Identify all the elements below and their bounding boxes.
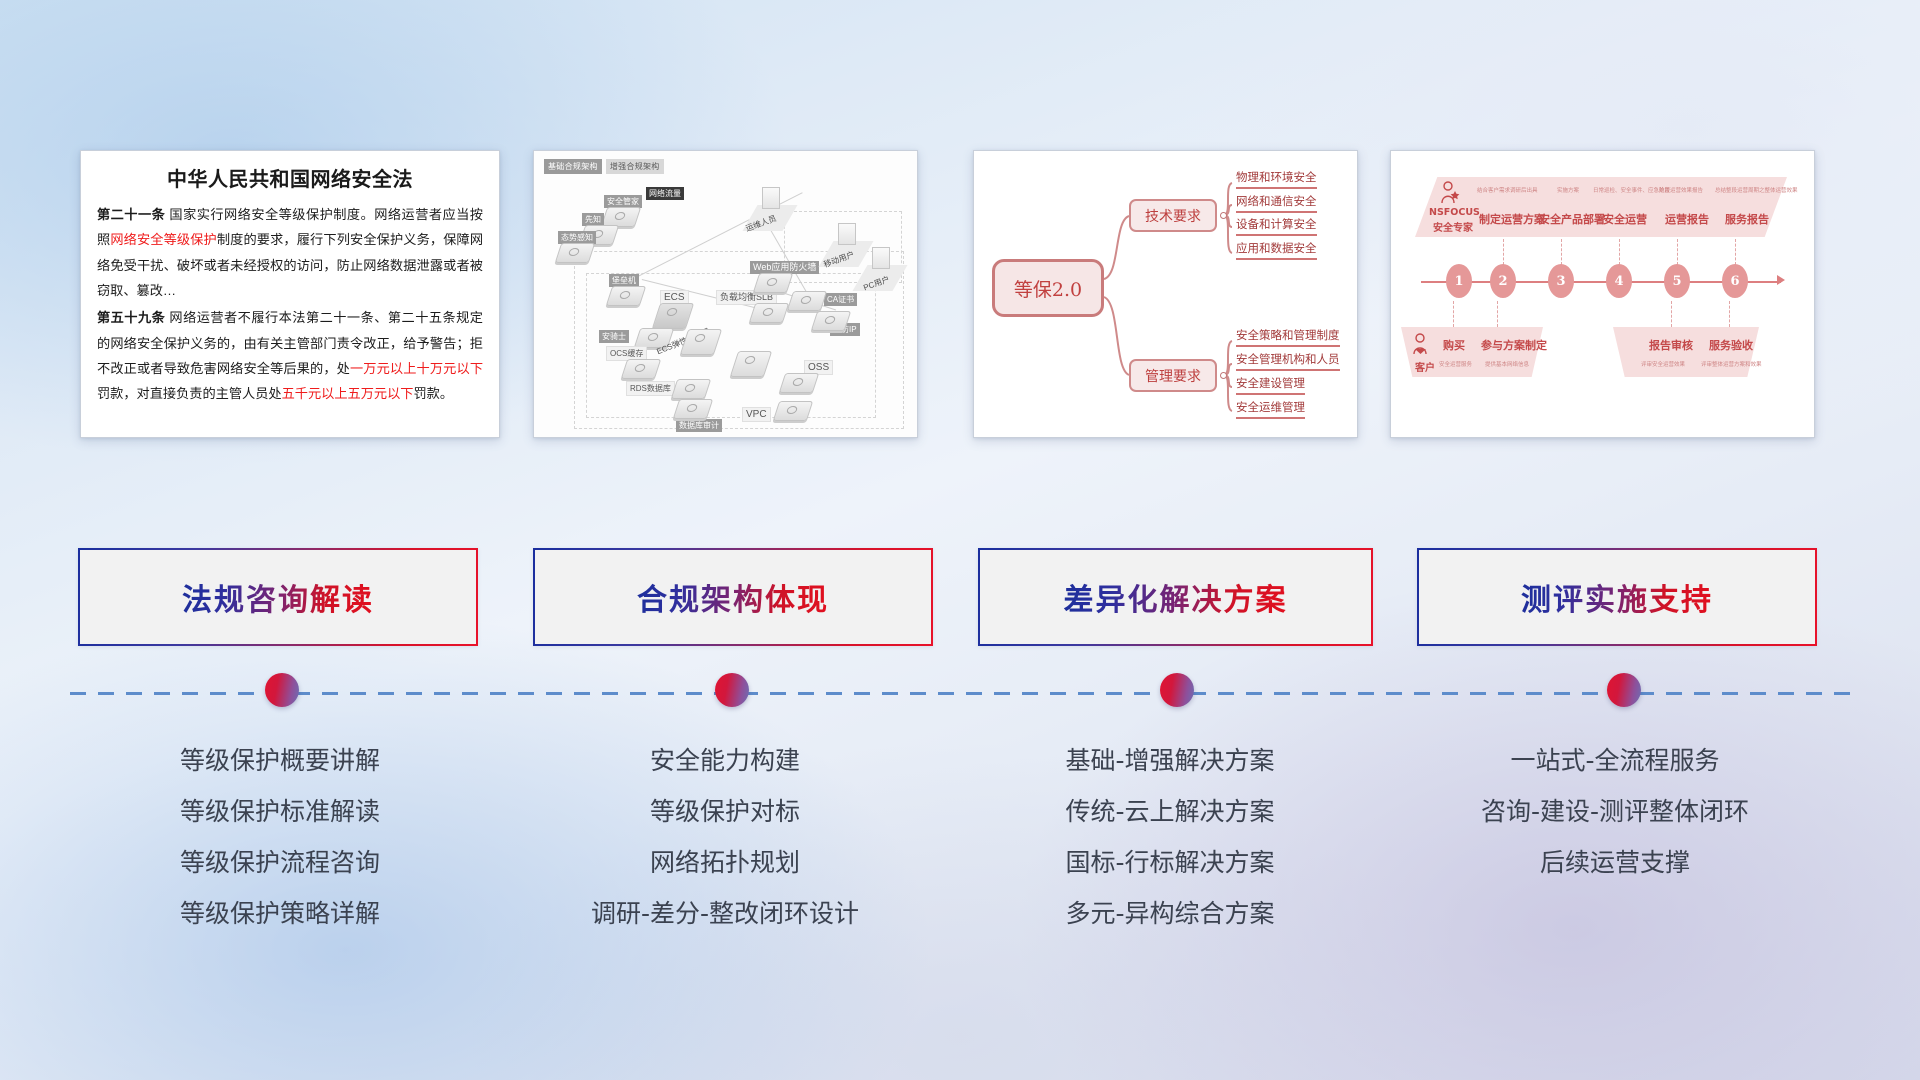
node-anti-ddos-ip: 高防IP <box>814 311 848 331</box>
process-top-sub: 总结整段运营周期之整体运营效果 <box>1715 186 1798 194</box>
section-title-label: 测评实施支持 <box>1521 575 1713 619</box>
timeline-dot-4[interactable] <box>1607 673 1641 707</box>
list-item: 国标-行标解决方案 <box>945 837 1395 888</box>
mindmap-leaf: 物理和环境安全 <box>1236 169 1317 189</box>
article-21-label: 第二十一条 <box>97 207 165 222</box>
mindmap-leaf: 安全建设管理 <box>1236 375 1305 395</box>
node-slb: 负载均衡SLB <box>752 303 786 323</box>
feature-column-4: 一站式-全流程服务 咨询-建设-测评整体闭环 后续运营支撑 <box>1390 735 1840 888</box>
law-body: 中华人民共和国网络安全法 第二十一条 国家实行网络安全等级保护制度。网络运营者应… <box>81 151 499 415</box>
mindmap-leaf: 应用和数据安全 <box>1236 240 1317 260</box>
mindmap-leaf: 安全运维管理 <box>1236 399 1305 419</box>
timeline-track <box>70 690 1850 696</box>
mindmap-collapse-knob-1[interactable] <box>1220 212 1227 219</box>
node-situational-awareness: 态势感知 <box>558 243 592 263</box>
node-db-audit: 数据库审计 <box>676 399 710 419</box>
process-step-node[interactable]: 1 <box>1446 264 1472 298</box>
node-ca-certificate: CA证书 <box>790 291 824 311</box>
process-canvas: NSFOCUS 安全专家 结合客户需求调研后出具 制定运营方案 实施方案 安全产… <box>1391 151 1814 437</box>
process-bottom-title: 报告审核 <box>1649 337 1693 353</box>
process-tick <box>1561 239 1562 265</box>
process-top-title: 服务报告 <box>1725 211 1769 227</box>
article-59-highlight-2: 五千元以上五万元以下 <box>282 386 414 401</box>
process-tick <box>1497 301 1498 327</box>
architecture-canvas: 基础合规架构 增强合规架构 网络流量 安全管家 先知 态势感知 <box>534 151 917 437</box>
mindmap-card[interactable]: 等保2.0 技术要求 物理和环境安全 网络和通信安全 设备和计算安全 应用和数据… <box>973 150 1358 438</box>
feature-column-2: 安全能力构建 等级保护对标 网络拓扑规划 调研-差分-整改闭环设计 <box>500 735 950 939</box>
node-rds-database: RDS数据库 <box>674 379 708 399</box>
node-label: 安骑士 <box>599 330 629 343</box>
architecture-diagram-card[interactable]: 基础合规架构 增强合规架构 网络流量 安全管家 先知 态势感知 <box>533 150 918 438</box>
node-vpc: VPC <box>776 401 810 421</box>
article-59-label: 第五十九条 <box>97 310 165 325</box>
section-title-label: 法规咨询解读 <box>182 575 374 619</box>
tab-basic-architecture[interactable]: 基础合规架构 <box>544 159 602 174</box>
node-ecs: ECS <box>656 303 690 329</box>
expert-person-icon <box>1439 181 1461 210</box>
node-security-butler: 安全管家 <box>604 207 638 227</box>
process-bottom-sub: 提供基本网络信息 <box>1485 360 1529 368</box>
list-item: 咨询-建设-测评整体闭环 <box>1390 786 1840 837</box>
feature-column-3: 基础-增强解决方案 传统-云上解决方案 国标-行标解决方案 多元-异构综合方案 <box>945 735 1395 939</box>
list-item: 等级保护策略详解 <box>55 888 505 939</box>
list-item: 基础-增强解决方案 <box>945 735 1395 786</box>
list-item: 传统-云上解决方案 <box>945 786 1395 837</box>
article-59-mid: 罚款，对直接负责的主管人员处 <box>97 386 282 401</box>
process-top-title: 运营报告 <box>1665 211 1709 227</box>
timeline-dot-2[interactable] <box>715 673 749 707</box>
process-tick <box>1729 301 1730 327</box>
list-item: 等级保护对标 <box>500 786 950 837</box>
section-title-label: 合规架构体现 <box>637 575 829 619</box>
process-bottom-sub: 评审安全运营效果 <box>1641 360 1685 368</box>
process-bottom-title: 参与方案制定 <box>1481 337 1547 353</box>
process-tick <box>1671 301 1672 327</box>
node-label: 数据库审计 <box>676 419 722 432</box>
node-ecs-scaling-2 <box>734 351 768 377</box>
process-top-sub: 阶段运营效果报告 <box>1659 186 1703 194</box>
node-label: VPC <box>742 407 771 422</box>
process-bottom-title: 购买 <box>1443 337 1465 353</box>
list-item: 安全能力构建 <box>500 735 950 786</box>
process-bottom-sub: 评审整体运营方案和效果 <box>1701 360 1762 368</box>
law-article-21: 第二十一条 国家实行网络安全等级保护制度。网络运营者应当按照网络安全等级保护制度… <box>97 202 483 303</box>
node-label: 网络流量 <box>646 187 684 200</box>
article-59-post: 罚款。 <box>414 386 454 401</box>
mindmap-leaf: 安全策略和管理制度 <box>1236 327 1340 347</box>
list-item: 等级保护流程咨询 <box>55 837 505 888</box>
service-process-card[interactable]: NSFOCUS 安全专家 结合客户需求调研后出具 制定运营方案 实施方案 安全产… <box>1390 150 1815 438</box>
node-label: RDS数据库 <box>626 381 675 396</box>
process-step-node[interactable]: 2 <box>1490 264 1516 298</box>
timeline-dot-1[interactable] <box>265 673 299 707</box>
section-title-box-1[interactable]: 法规咨询解读 <box>78 548 478 646</box>
process-step-node[interactable]: 6 <box>1722 264 1748 298</box>
node-ecs-scaling-group: ECS弹性伸缩组 <box>684 329 718 355</box>
mindmap-collapse-knob-2[interactable] <box>1220 372 1227 379</box>
mindmap-branch-technical[interactable]: 技术要求 <box>1129 199 1217 232</box>
article-59-highlight-1: 一万元以上十万元以下 <box>350 361 483 376</box>
node-label: CA证书 <box>824 293 857 306</box>
timeline-dashed-line <box>70 692 1850 695</box>
section-title-box-4[interactable]: 测评实施支持 <box>1417 548 1817 646</box>
process-bottom-title: 服务验收 <box>1709 337 1753 353</box>
customer-label: 客户 <box>1415 359 1435 374</box>
tab-enhanced-architecture[interactable]: 增强合规架构 <box>606 159 664 174</box>
timeline-dot-3[interactable] <box>1160 673 1194 707</box>
mindmap-leaf: 设备和计算安全 <box>1236 216 1317 236</box>
process-top-title: 安全产品部署 <box>1539 211 1605 227</box>
process-top-sub: 实施方案 <box>1557 186 1579 194</box>
process-top-sub: 结合客户需求调研后出具 <box>1477 186 1538 194</box>
node-oss: OSS <box>782 373 816 393</box>
media-card-row: 中华人民共和国网络安全法 第二十一条 国家实行网络安全等级保护制度。网络运营者应… <box>0 150 1920 442</box>
section-title-label: 差异化解决方案 <box>1064 575 1288 619</box>
section-title-box-2[interactable]: 合规架构体现 <box>533 548 933 646</box>
process-top-title: 制定运营方案 <box>1479 211 1545 227</box>
list-item: 等级保护标准解读 <box>55 786 505 837</box>
process-tick <box>1735 239 1736 265</box>
law-title: 中华人民共和国网络安全法 <box>97 163 483 192</box>
mindmap-canvas: 等保2.0 技术要求 物理和环境安全 网络和通信安全 设备和计算安全 应用和数据… <box>974 151 1357 437</box>
mindmap-leaf: 安全管理机构和人员 <box>1236 351 1340 371</box>
provider-label-line2: 安全专家 <box>1433 219 1473 234</box>
list-item: 调研-差分-整改闭环设计 <box>500 888 950 939</box>
list-item: 一站式-全流程服务 <box>1390 735 1840 786</box>
mindmap-leaf: 网络和通信安全 <box>1236 193 1317 213</box>
process-step-node[interactable]: 5 <box>1664 264 1690 298</box>
law-article-59: 第五十九条 网络运营者不履行本法第二十一条、第二十五条规定的网络安全保护义务的，… <box>97 305 483 406</box>
node-bastion-host: 堡垒机 <box>609 286 643 306</box>
node-ocs-cache: OCS缓存 <box>624 359 658 379</box>
process-tick <box>1453 301 1454 327</box>
process-bottom-sub: 安全运营服务 <box>1439 360 1472 368</box>
section-title-box-3[interactable]: 差异化解决方案 <box>978 548 1373 646</box>
list-item: 多元-异构综合方案 <box>945 888 1395 939</box>
feature-column-1: 等级保护概要讲解 等级保护标准解读 等级保护流程咨询 等级保护策略详解 <box>55 735 505 939</box>
section-title-row: 法规咨询解读 合规架构体现 差异化解决方案 测评实施支持 <box>0 548 1920 646</box>
node-waf: Web应用防火墙 <box>756 273 790 293</box>
process-tick <box>1619 239 1620 265</box>
process-axis-arrow <box>1777 275 1785 285</box>
provider-label-line1: NSFOCUS <box>1429 207 1480 218</box>
customer-person-icon <box>1411 333 1431 360</box>
list-item: 后续运营支撑 <box>1390 837 1840 888</box>
process-top-title: 安全运营 <box>1603 211 1647 227</box>
list-item: 网络拓扑规划 <box>500 837 950 888</box>
article-21-highlight: 网络安全等级保护 <box>110 232 217 247</box>
architecture-tabs: 基础合规架构 增强合规架构 <box>544 159 664 174</box>
process-tick <box>1677 239 1678 265</box>
process-step-node[interactable]: 4 <box>1606 264 1632 298</box>
process-step-node[interactable]: 3 <box>1548 264 1574 298</box>
mindmap-branch-management[interactable]: 管理要求 <box>1129 359 1217 392</box>
list-item: 等级保护概要讲解 <box>55 735 505 786</box>
law-text-card[interactable]: 中华人民共和国网络安全法 第二十一条 国家实行网络安全等级保护制度。网络运营者应… <box>80 150 500 438</box>
process-tick <box>1503 239 1504 265</box>
